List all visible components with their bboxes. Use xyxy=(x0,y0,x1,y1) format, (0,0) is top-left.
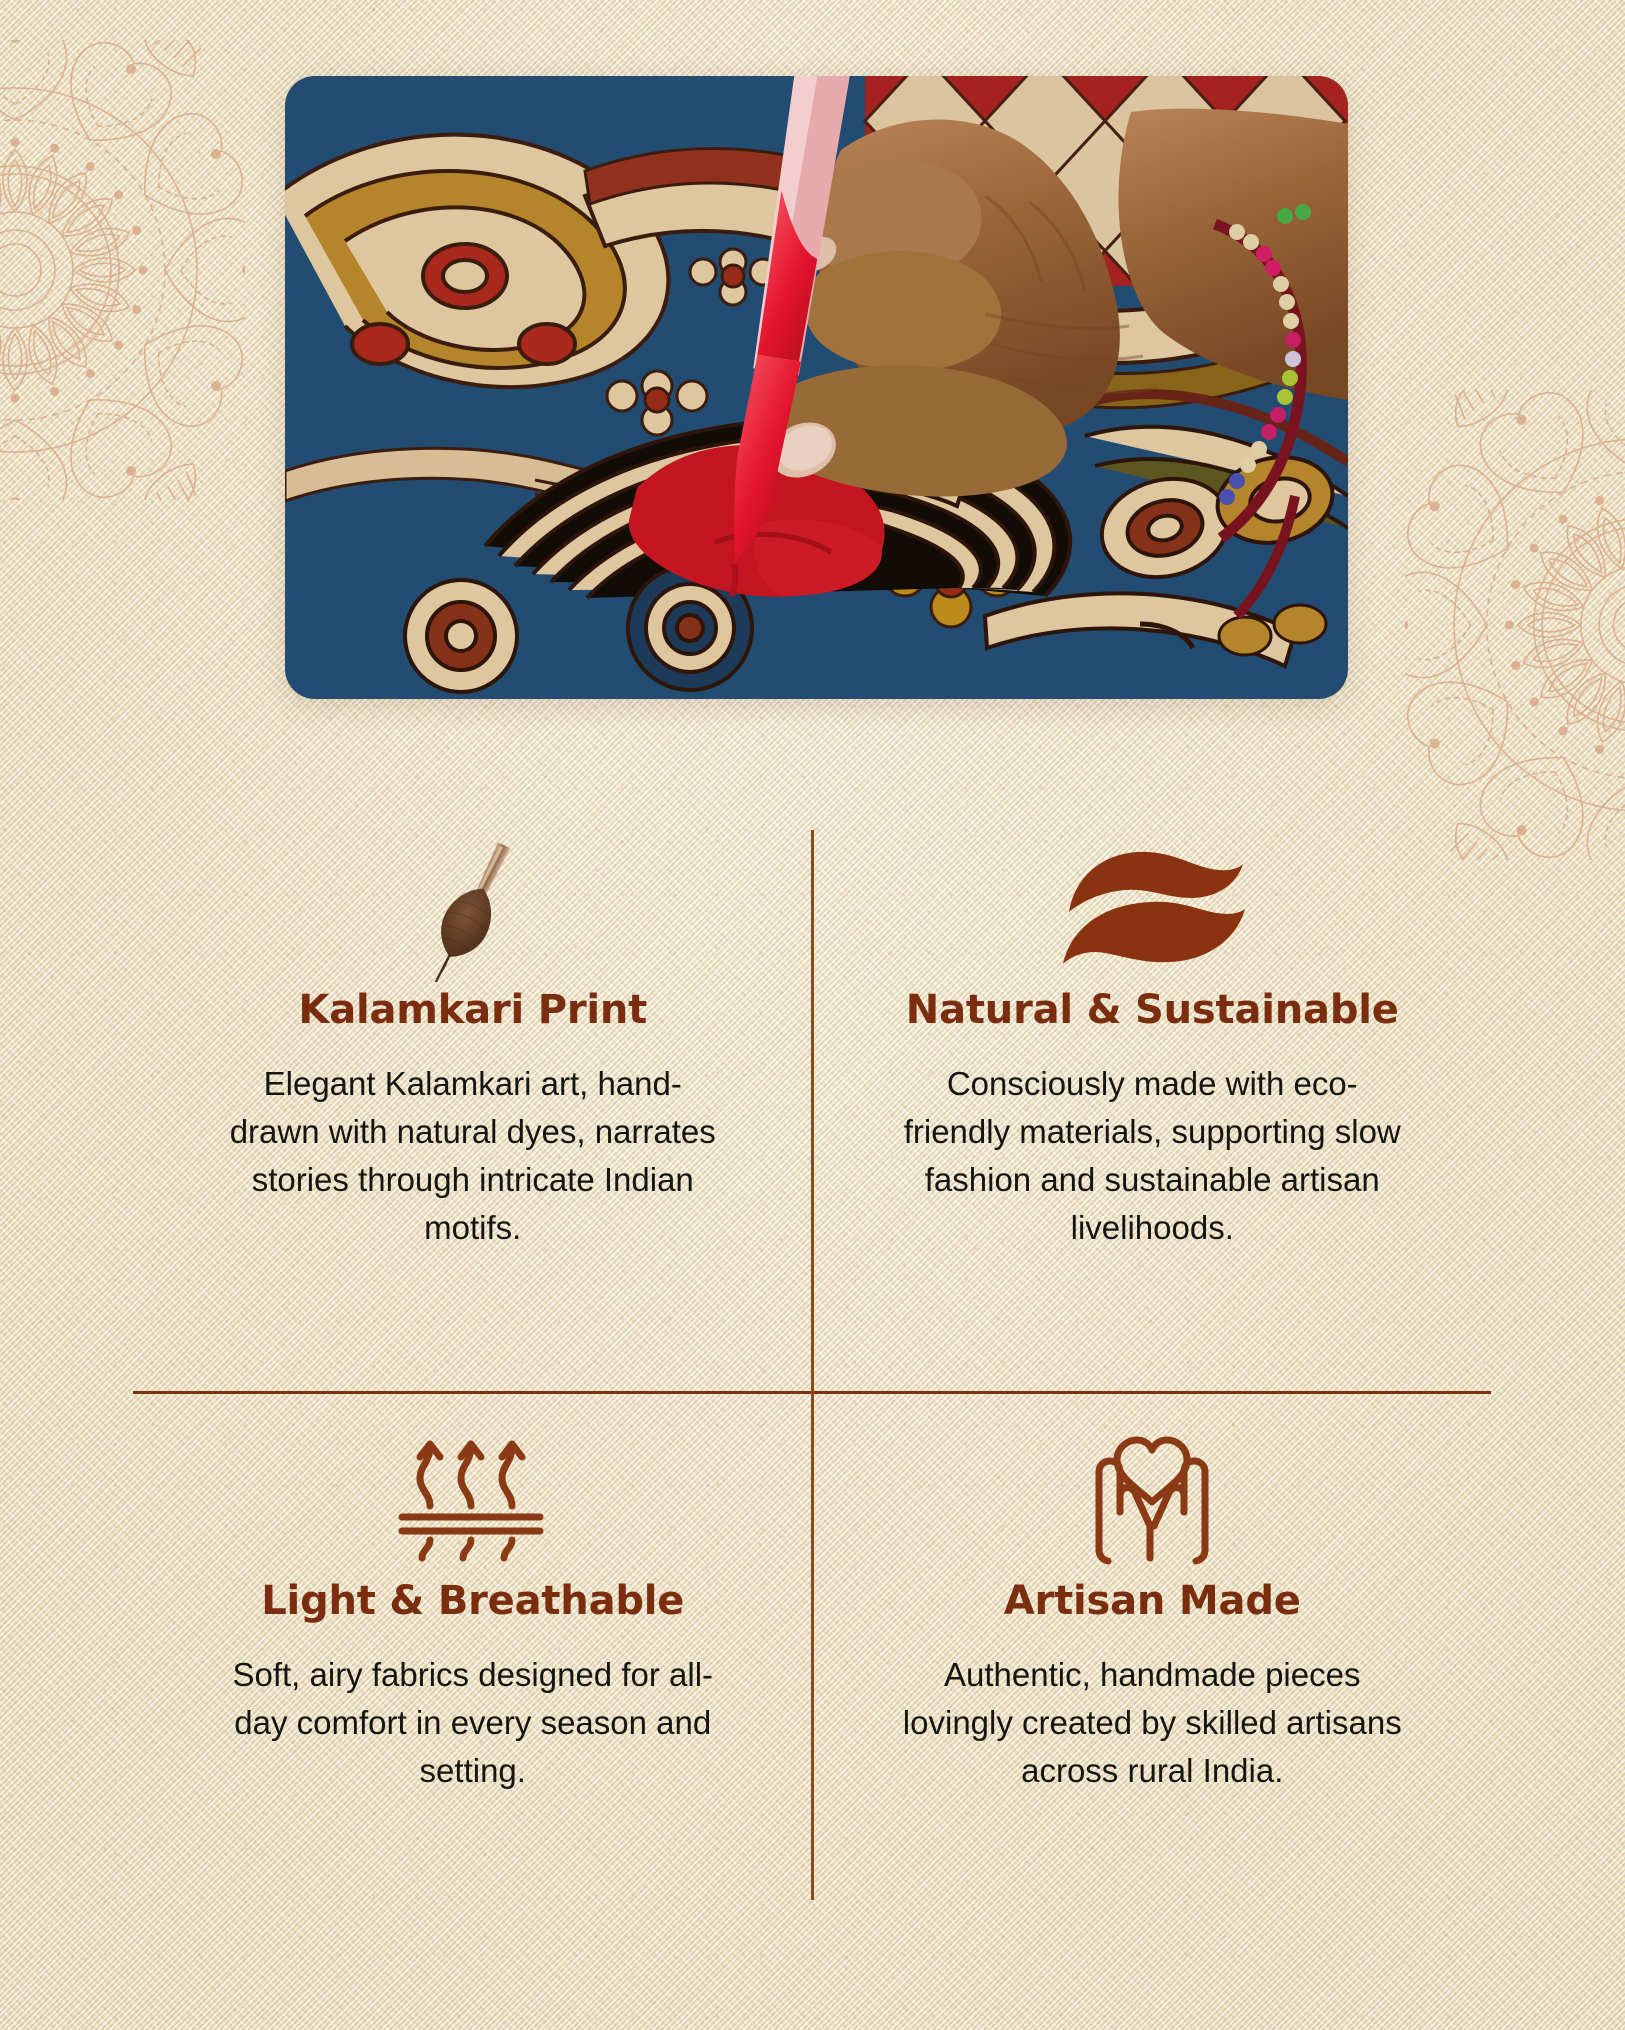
feature-description: Consciously made with eco-friendly mater… xyxy=(902,1060,1402,1251)
hands-heart-icon xyxy=(1077,1423,1227,1573)
feature-card-kalamkari-print: Kalamkari Print Elegant Kalamkari art, h… xyxy=(133,820,813,1365)
feature-description: Authentic, handmade pieces lovingly crea… xyxy=(902,1651,1402,1795)
feature-title: Artisan Made xyxy=(1004,1579,1301,1623)
poster-canvas: Kalamkari Print Elegant Kalamkari art, h… xyxy=(0,0,1625,2030)
leaf-icon xyxy=(1059,832,1245,982)
feature-title: Light & Breathable xyxy=(261,1579,684,1623)
kalam-pen-icon xyxy=(403,832,543,982)
feature-card-natural-sustainable: Natural & Sustainable Consciously made w… xyxy=(813,820,1493,1365)
feature-card-artisan-made: Artisan Made Authentic, handmade pieces … xyxy=(813,1365,1493,1910)
feature-title: Natural & Sustainable xyxy=(906,988,1399,1032)
feature-grid: Kalamkari Print Elegant Kalamkari art, h… xyxy=(133,820,1492,1910)
feature-description: Elegant Kalamkari art, hand-drawn with n… xyxy=(223,1060,723,1251)
breathable-fabric-icon xyxy=(398,1423,548,1573)
kalamkari-artisan-photo xyxy=(285,76,1348,699)
feature-description: Soft, airy fabrics designed for all-day … xyxy=(223,1651,723,1795)
feature-title: Kalamkari Print xyxy=(298,988,647,1032)
feature-card-light-breathable: Light & Breathable Soft, airy fabrics de… xyxy=(133,1365,813,1910)
